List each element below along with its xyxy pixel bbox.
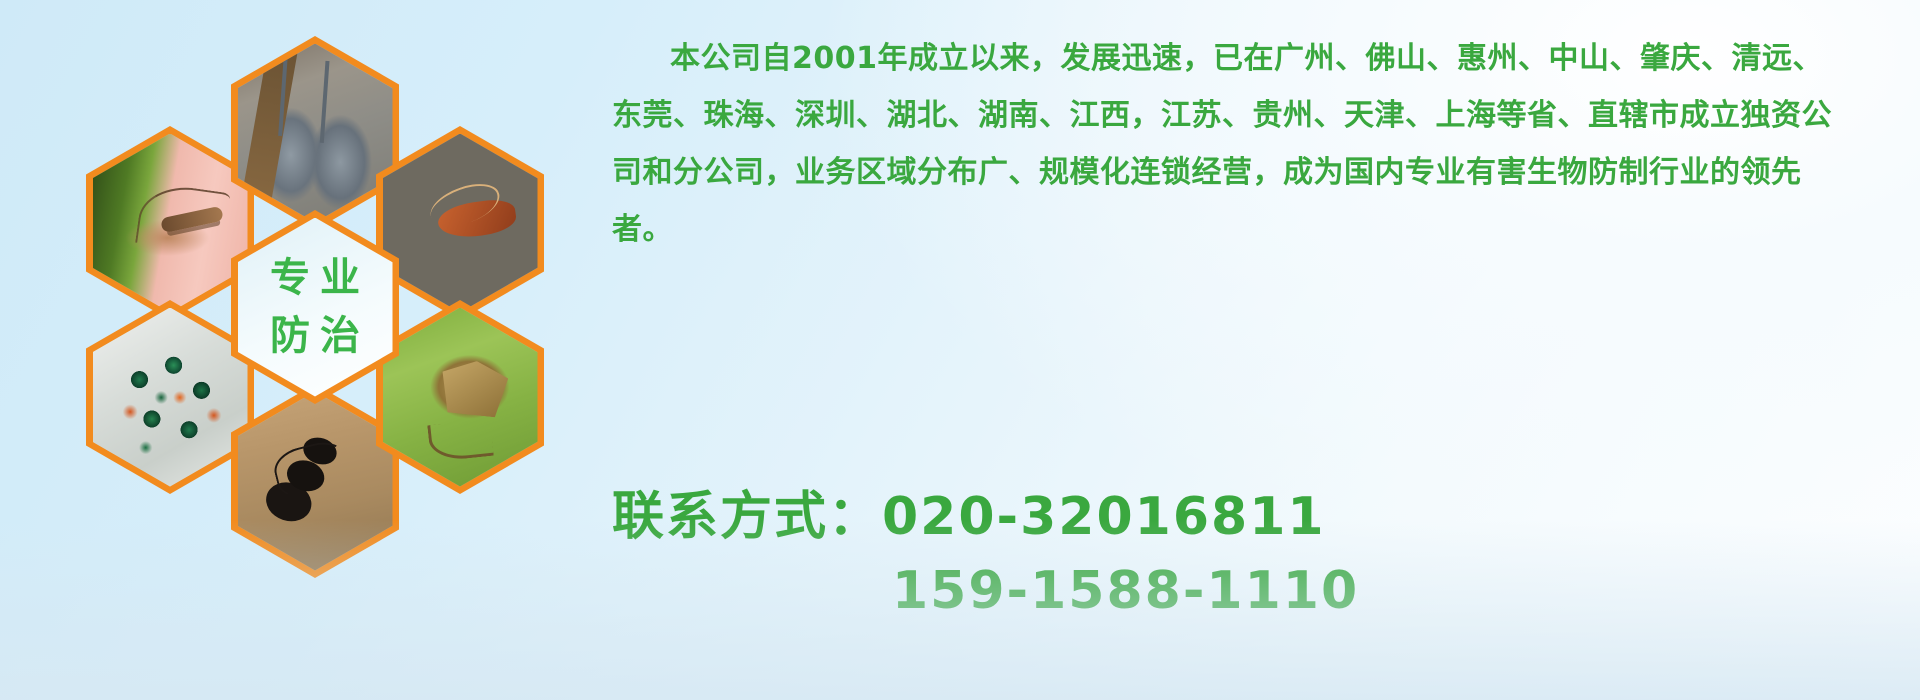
promo-banner: 专业 防治 本公司自2001年成立以来，发展迅速，已在广州、佛山、惠州、中山、肇…: [0, 0, 1920, 700]
rats-photo: [238, 44, 393, 223]
hex-tile-cockroach-icon: [376, 126, 544, 320]
hex-tile-rats-icon: [231, 36, 399, 230]
logo-line-1: 专业: [260, 249, 370, 307]
contact-block: 联系方式：020-32016811 159-1588-1110: [612, 480, 1852, 628]
contact-phone-landline[interactable]: 联系方式：020-32016811: [612, 480, 1852, 554]
cockroach-photo: [383, 134, 538, 313]
hex-tile-ant-icon: [231, 384, 399, 578]
contact-phone-mobile[interactable]: 159-1588-1110: [612, 554, 1852, 628]
hex-photo-cluster: 专业 防治: [90, 0, 590, 570]
ant-photo: [238, 392, 393, 571]
stinkbug-photo: [383, 308, 538, 487]
hex-tile-stinkbug-icon: [376, 300, 544, 494]
intro-copy-block: 本公司自2001年成立以来，发展迅速，已在广州、佛山、惠州、中山、肇庆、清远、东…: [612, 30, 1852, 258]
flies-photo: [93, 308, 248, 487]
hex-tile-flies-icon: [86, 300, 254, 494]
company-intro-paragraph: 本公司自2001年成立以来，发展迅速，已在广州、佛山、惠州、中山、肇庆、清远、东…: [612, 30, 1852, 258]
mosquito-photo: [93, 134, 248, 313]
hex-tile-mosquito-icon: [86, 126, 254, 320]
hex-tile-logo: 专业 防治: [231, 210, 399, 404]
logo-line-2: 防治: [260, 307, 370, 365]
